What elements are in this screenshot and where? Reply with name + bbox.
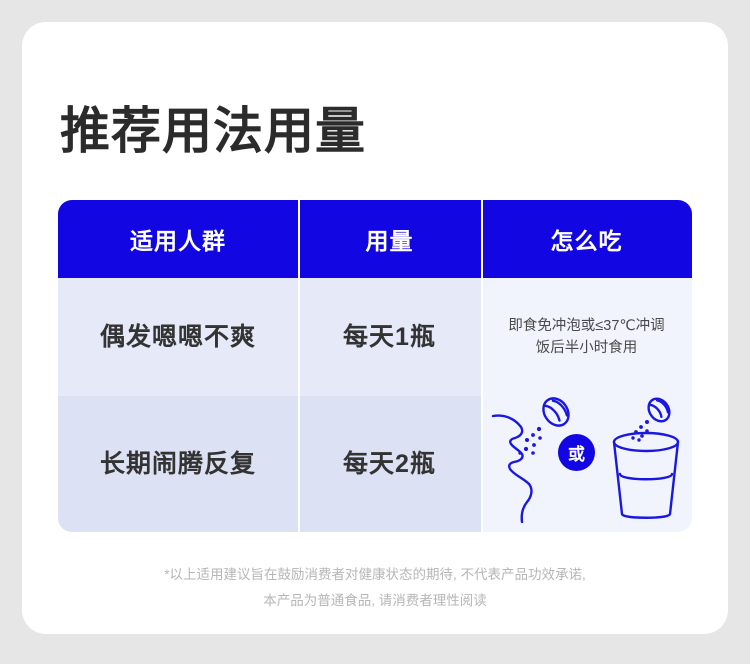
table-header-dosage: 用量: [298, 200, 481, 278]
table-row: 即食免冲泡或≤37℃冲调 饭后半小时食用: [481, 278, 692, 396]
howto-line-1: 即食免冲泡或≤37℃冲调: [508, 315, 664, 337]
howto-illustration: 或: [481, 396, 692, 532]
table-header-row: 适用人群 用量 怎么吃: [58, 200, 692, 278]
howto-line-2: 饭后半小时食用: [508, 337, 664, 359]
sachet-icon: [644, 396, 673, 425]
table-column-audience: 偶发嗯嗯不爽 长期闹腾反复: [58, 278, 298, 532]
face-profile-icon: [493, 416, 531, 522]
cell-audience-row1: 偶发嗯嗯不爽: [100, 321, 256, 354]
content-card: 推荐用法用量 适用人群 用量 怎么吃 偶发嗯嗯不爽 长期闹腾反复 每天1瓶: [22, 22, 728, 634]
table-column-dosage: 每天1瓶 每天2瓶: [298, 278, 481, 532]
or-badge: 或: [558, 434, 595, 471]
page-title: 推荐用法用量: [60, 104, 366, 159]
footnote: *以上适用建议旨在鼓励消费者对健康状态的期待, 不代表产品功效承诺, 本产品为普…: [22, 562, 728, 613]
table-column-howto: 即食免冲泡或≤37℃冲调 饭后半小时食用: [481, 278, 692, 532]
table-row: 长期闹腾反复: [58, 396, 298, 532]
cell-audience-row2: 长期闹腾反复: [100, 448, 256, 481]
cell-dosage-row2: 每天2瓶: [343, 448, 436, 481]
table-row: 每天2瓶: [298, 396, 481, 532]
table-row: 每天1瓶: [298, 278, 481, 396]
sachet-icon: [538, 396, 573, 430]
footnote-line-1: *以上适用建议旨在鼓励消费者对健康状态的期待, 不代表产品功效承诺,: [22, 562, 728, 588]
footnote-line-2: 本产品为普通食品, 请消费者理性阅读: [22, 588, 728, 614]
table-header-audience: 适用人群: [58, 200, 298, 278]
table-row: 或: [481, 396, 692, 532]
usage-table: 适用人群 用量 怎么吃 偶发嗯嗯不爽 长期闹腾反复 每天1瓶 每天2瓶: [58, 200, 692, 532]
table-header-howto: 怎么吃: [481, 200, 692, 278]
cell-dosage-row1: 每天1瓶: [343, 321, 436, 354]
cell-howto-text: 即食免冲泡或≤37℃冲调 饭后半小时食用: [500, 315, 672, 360]
table-row: 偶发嗯嗯不爽: [58, 278, 298, 396]
table-body: 偶发嗯嗯不爽 长期闹腾反复 每天1瓶 每天2瓶 即食免冲泡或≤37℃冲调: [58, 278, 692, 532]
water-glass-icon: [614, 433, 678, 518]
